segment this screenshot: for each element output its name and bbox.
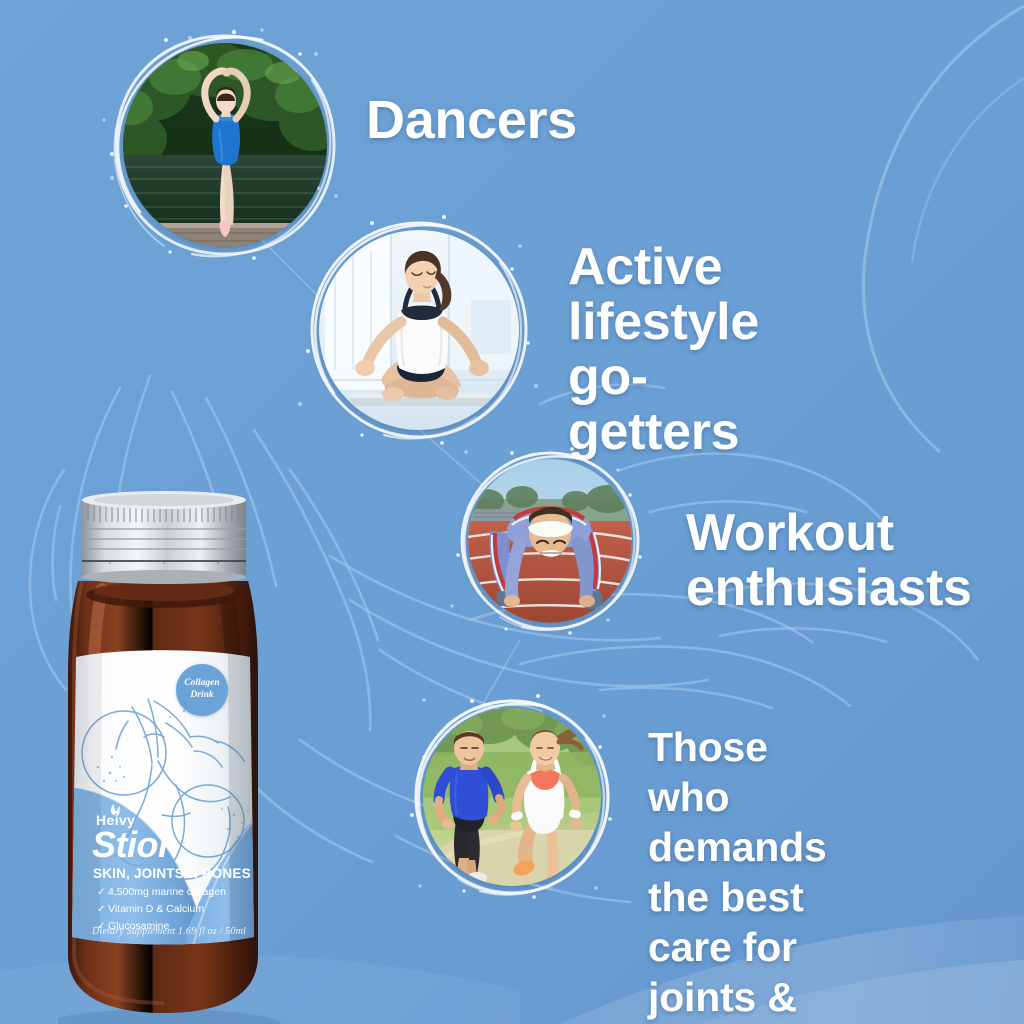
product-footer-text: Dietary Supplement 1.69 fl oz / 50ml: [92, 926, 246, 937]
product-tagline: SKIN, JOINTS & BONES: [93, 866, 251, 881]
badge-collagen-drink: Collagen Drink: [176, 664, 228, 716]
photo-frame-active-lifestyle: [300, 211, 538, 449]
headline-best-care: Those who demands the best care for join…: [648, 722, 827, 1024]
check-icon: ✓: [97, 885, 108, 901]
product-name: Stior: [92, 824, 172, 866]
photo-frame-workout: [452, 443, 648, 639]
headline-dancers: Dancers: [366, 92, 577, 149]
headline-active-lifestyle: Active lifestyle go-getters: [568, 240, 759, 460]
bullet-text: 4,500mg marine collagen: [108, 886, 226, 898]
photo-yoga-woman: [319, 230, 519, 430]
photo-sprinter: [468, 459, 632, 623]
headline-workout: Workout enthusiasts: [686, 506, 972, 616]
photo-frame-best-care: [406, 691, 618, 903]
list-item: ✓4,500mg marine collagen: [97, 884, 287, 901]
photo-running-couple: [423, 708, 601, 886]
photo-product-bottle: [58, 485, 328, 1024]
badge-line-2: Drink: [190, 690, 213, 702]
badge-line-1: Collagen: [184, 678, 219, 690]
check-icon: ✓: [97, 902, 108, 918]
photo-ballet-dancer: [123, 43, 327, 247]
list-item: ✓Vitamin D & Calcium: [97, 901, 287, 918]
bottle-graphic: [58, 485, 328, 1024]
bullet-text: Vitamin D & Calcium: [108, 903, 204, 915]
marketing-image-canvas: Dancers: [0, 0, 1024, 1024]
